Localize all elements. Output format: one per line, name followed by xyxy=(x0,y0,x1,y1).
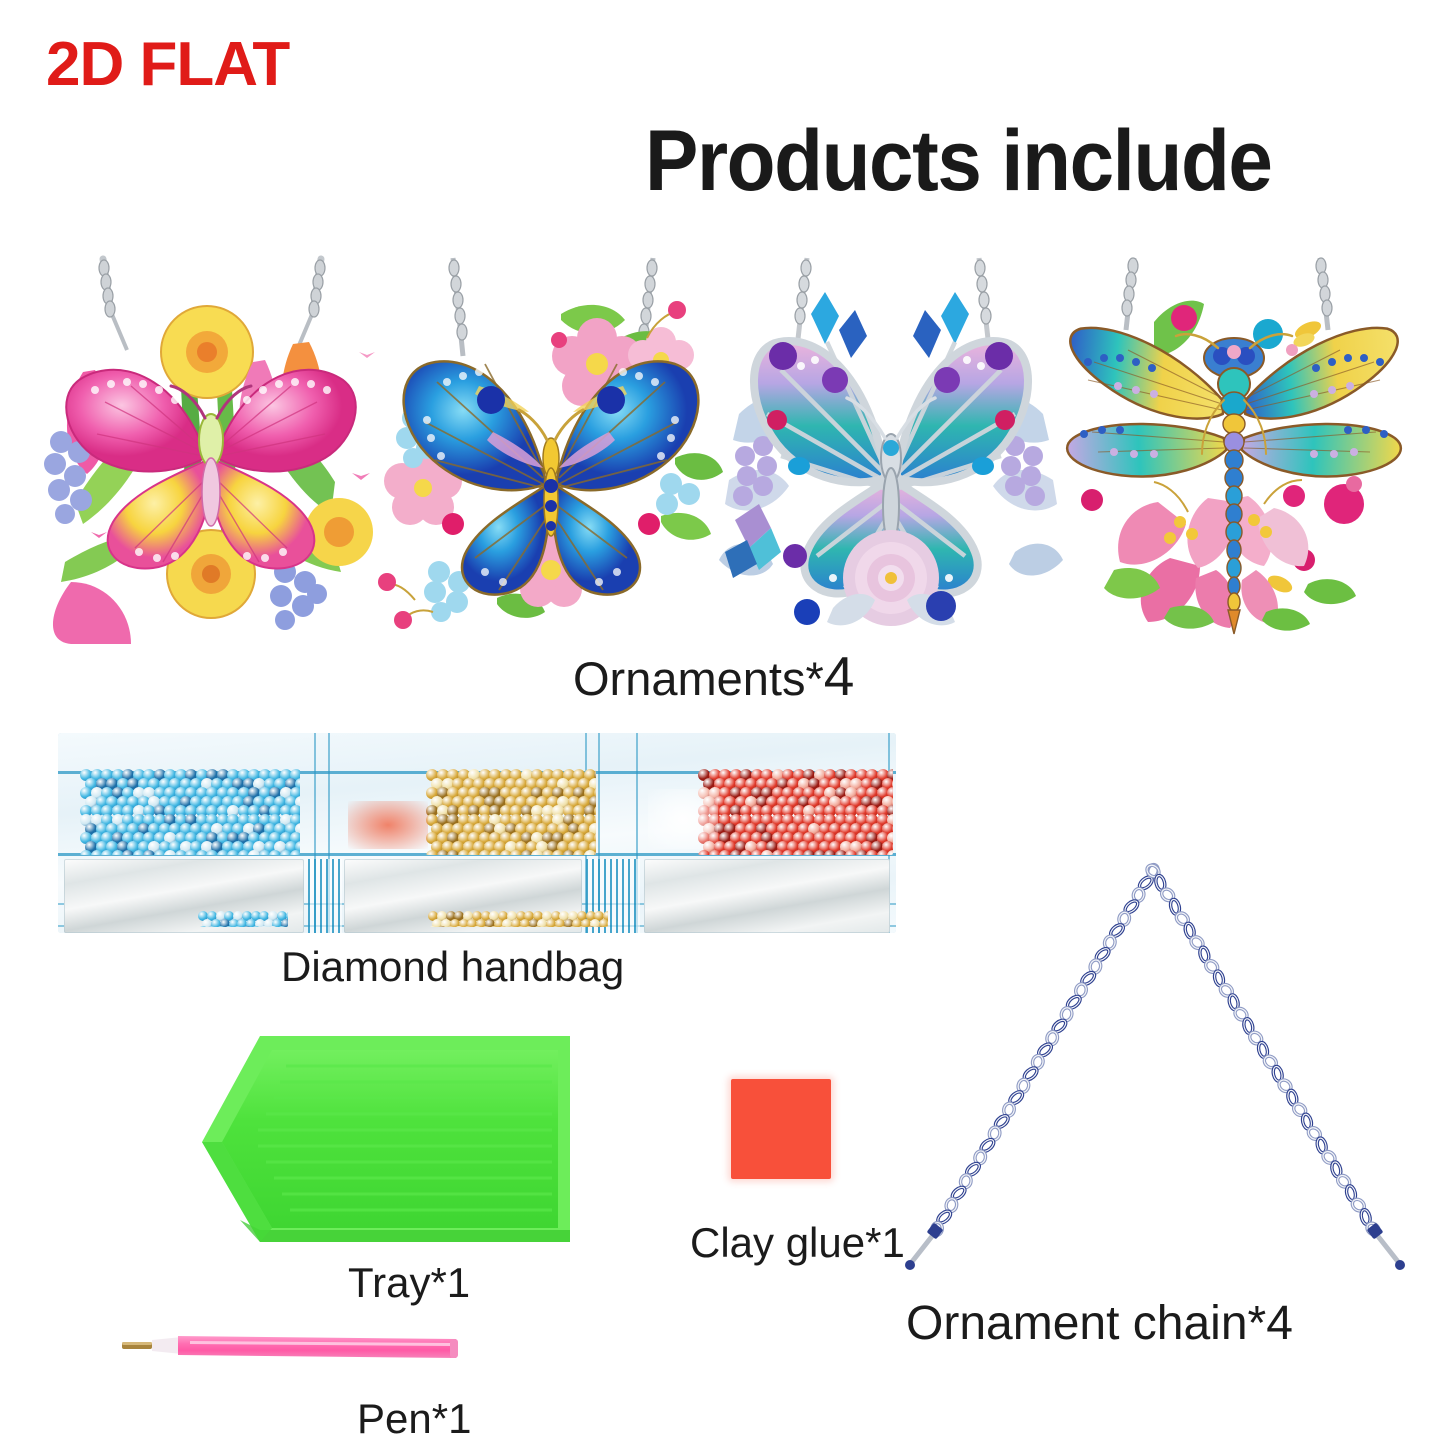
flat-style-badge: 2D FLAT xyxy=(46,34,289,96)
ornaments-caption-text: Ornaments* xyxy=(573,652,824,705)
pen-photo xyxy=(120,1333,460,1367)
ornaments-caption: Ornaments*4 xyxy=(573,649,854,704)
clay-glue-photo xyxy=(731,1079,831,1179)
handbag-compartment-gold xyxy=(426,767,596,855)
ornament-2-illustration xyxy=(375,252,727,644)
ornament-item-2 xyxy=(375,252,727,644)
tray-photo xyxy=(200,1030,575,1254)
ornament-1-illustration xyxy=(35,252,387,644)
tray-caption: Tray*1 xyxy=(348,1262,470,1304)
ornaments-caption-qty: 4 xyxy=(824,645,855,707)
product-include-infographic: 2D FLAT Products include xyxy=(0,0,1445,1445)
ornament-4-chain-icon xyxy=(1122,258,1332,330)
chain-end-pin-right xyxy=(1367,1223,1405,1270)
handbag-compartment-red xyxy=(698,767,893,855)
ornament-item-1 xyxy=(35,252,387,644)
ornament-4-illustration xyxy=(1058,252,1410,644)
diamond-handbag-caption: Diamond handbag xyxy=(281,946,624,988)
ornament-3-illustration xyxy=(715,252,1067,644)
handbag-compartment-blue xyxy=(80,767,300,855)
ornament-item-4 xyxy=(1058,252,1410,644)
ornament-chain-photo xyxy=(895,855,1415,1285)
ornament-item-3 xyxy=(715,252,1067,644)
ornament-chain-caption: Ornament chain*4 xyxy=(906,1300,1293,1348)
pen-caption: Pen*1 xyxy=(357,1398,471,1440)
diamond-handbag-photo xyxy=(58,733,896,933)
clay-glue-caption: Clay glue*1 xyxy=(690,1222,905,1264)
page-title: Products include xyxy=(645,118,1272,204)
chain-end-pin-left xyxy=(905,1223,943,1270)
